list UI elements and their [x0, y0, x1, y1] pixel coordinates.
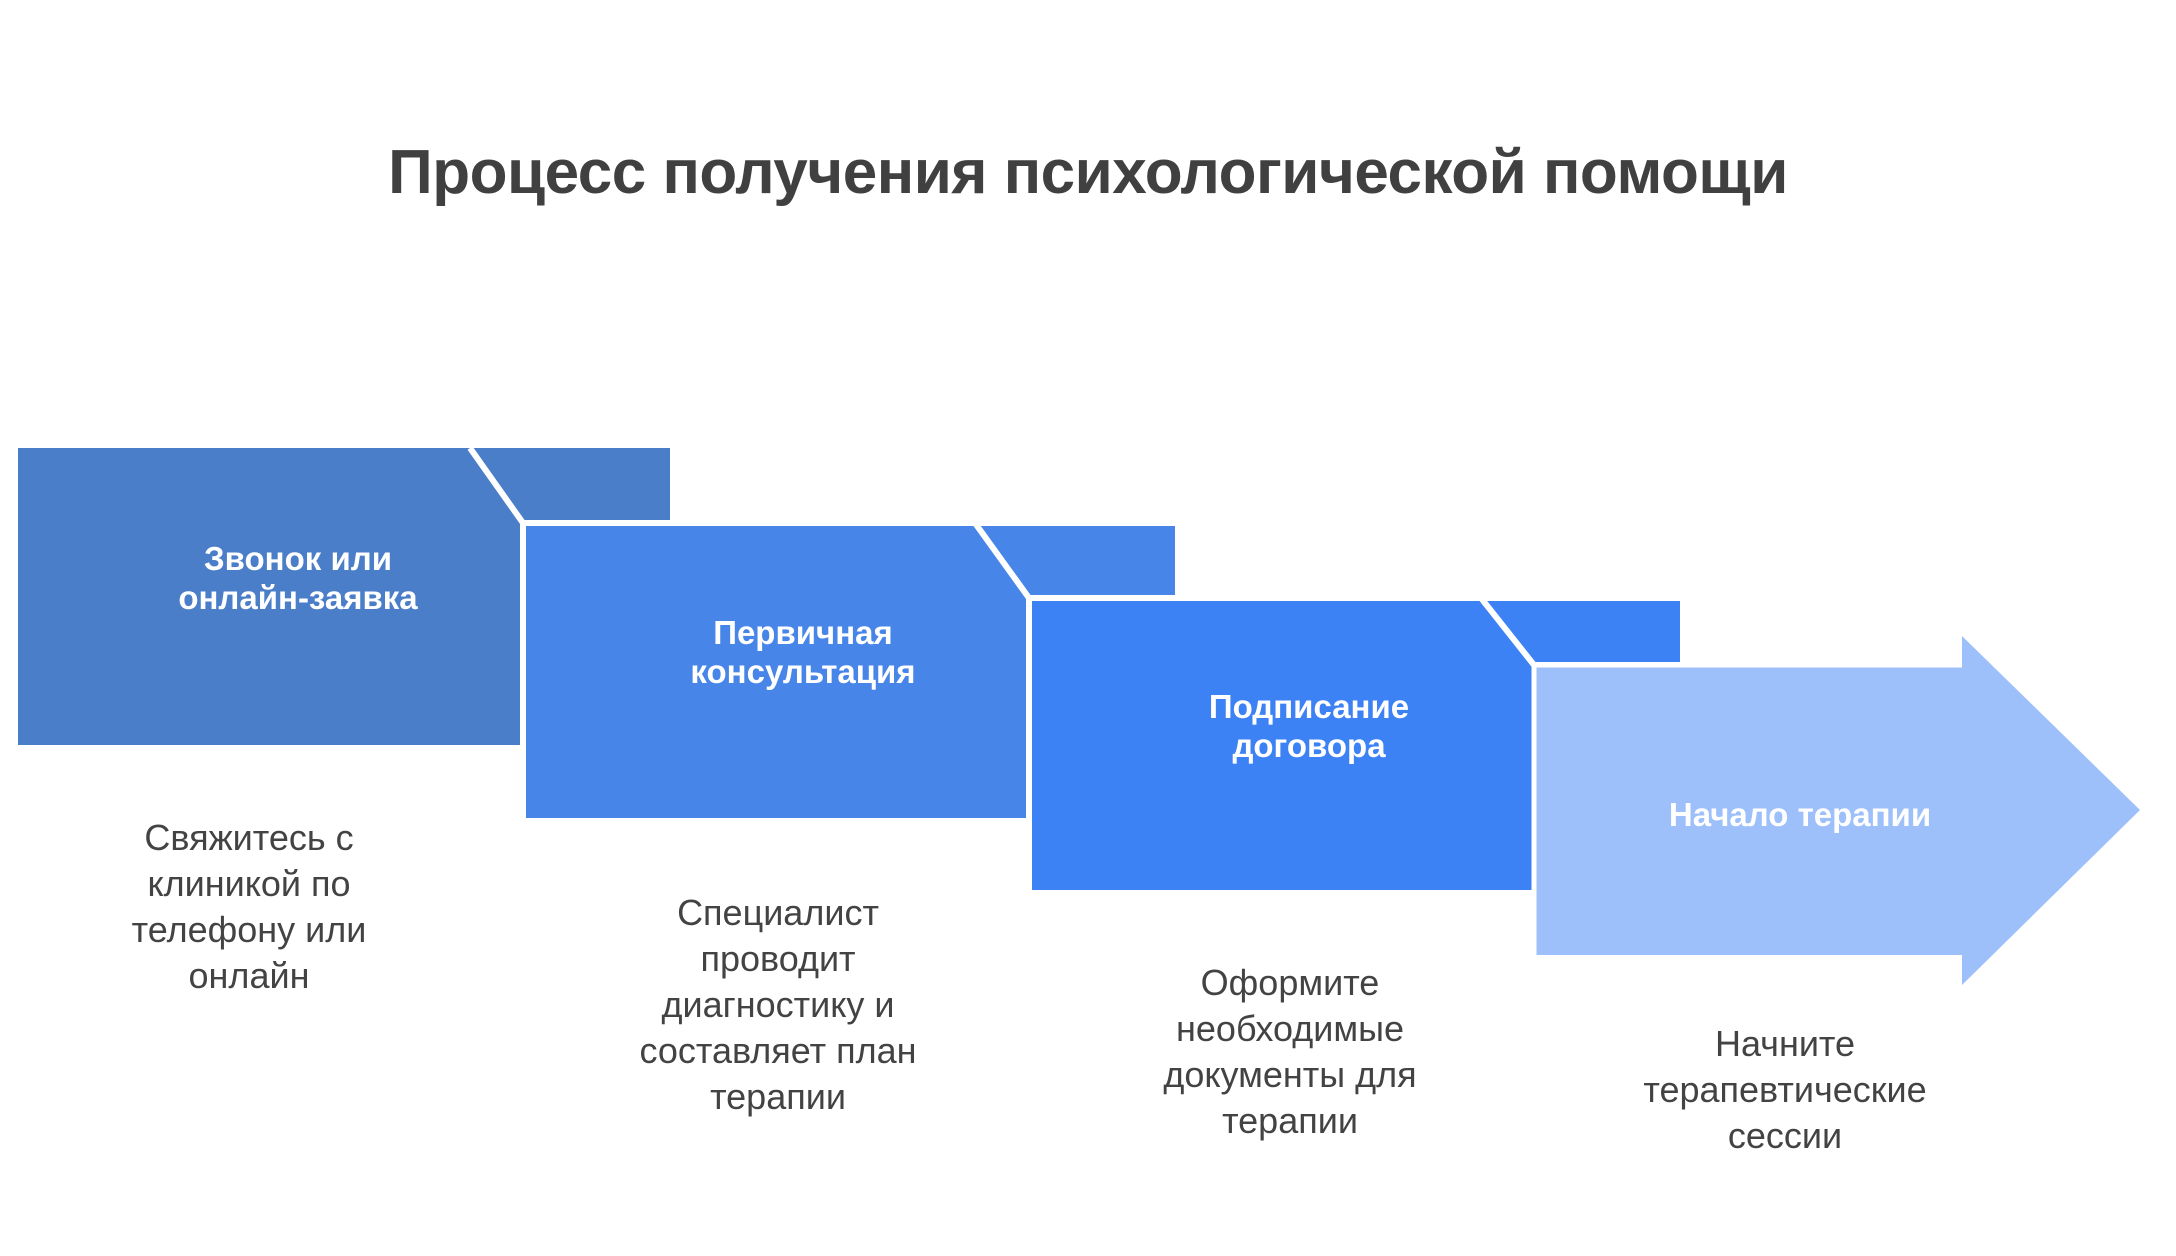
- step-4-caption: Начните терапевтические сессии: [1575, 1021, 1995, 1159]
- step-3-caption: Оформите необходимые документы для терап…: [1085, 960, 1495, 1144]
- step-4-label: Начало терапии: [1560, 796, 2040, 835]
- step-1-caption: Свяжитесь с клиникой по телефону или онл…: [64, 815, 434, 999]
- step-1-label: Звонок или онлайн-заявка: [18, 540, 578, 618]
- step-2-label: Первичная консультация: [523, 614, 1083, 692]
- step-3-label: Подписание договора: [1029, 688, 1589, 766]
- slide-canvas: Процесс получения психологической помощи: [0, 0, 2176, 1256]
- step-2-caption: Специалист проводит диагностику и состав…: [578, 890, 978, 1120]
